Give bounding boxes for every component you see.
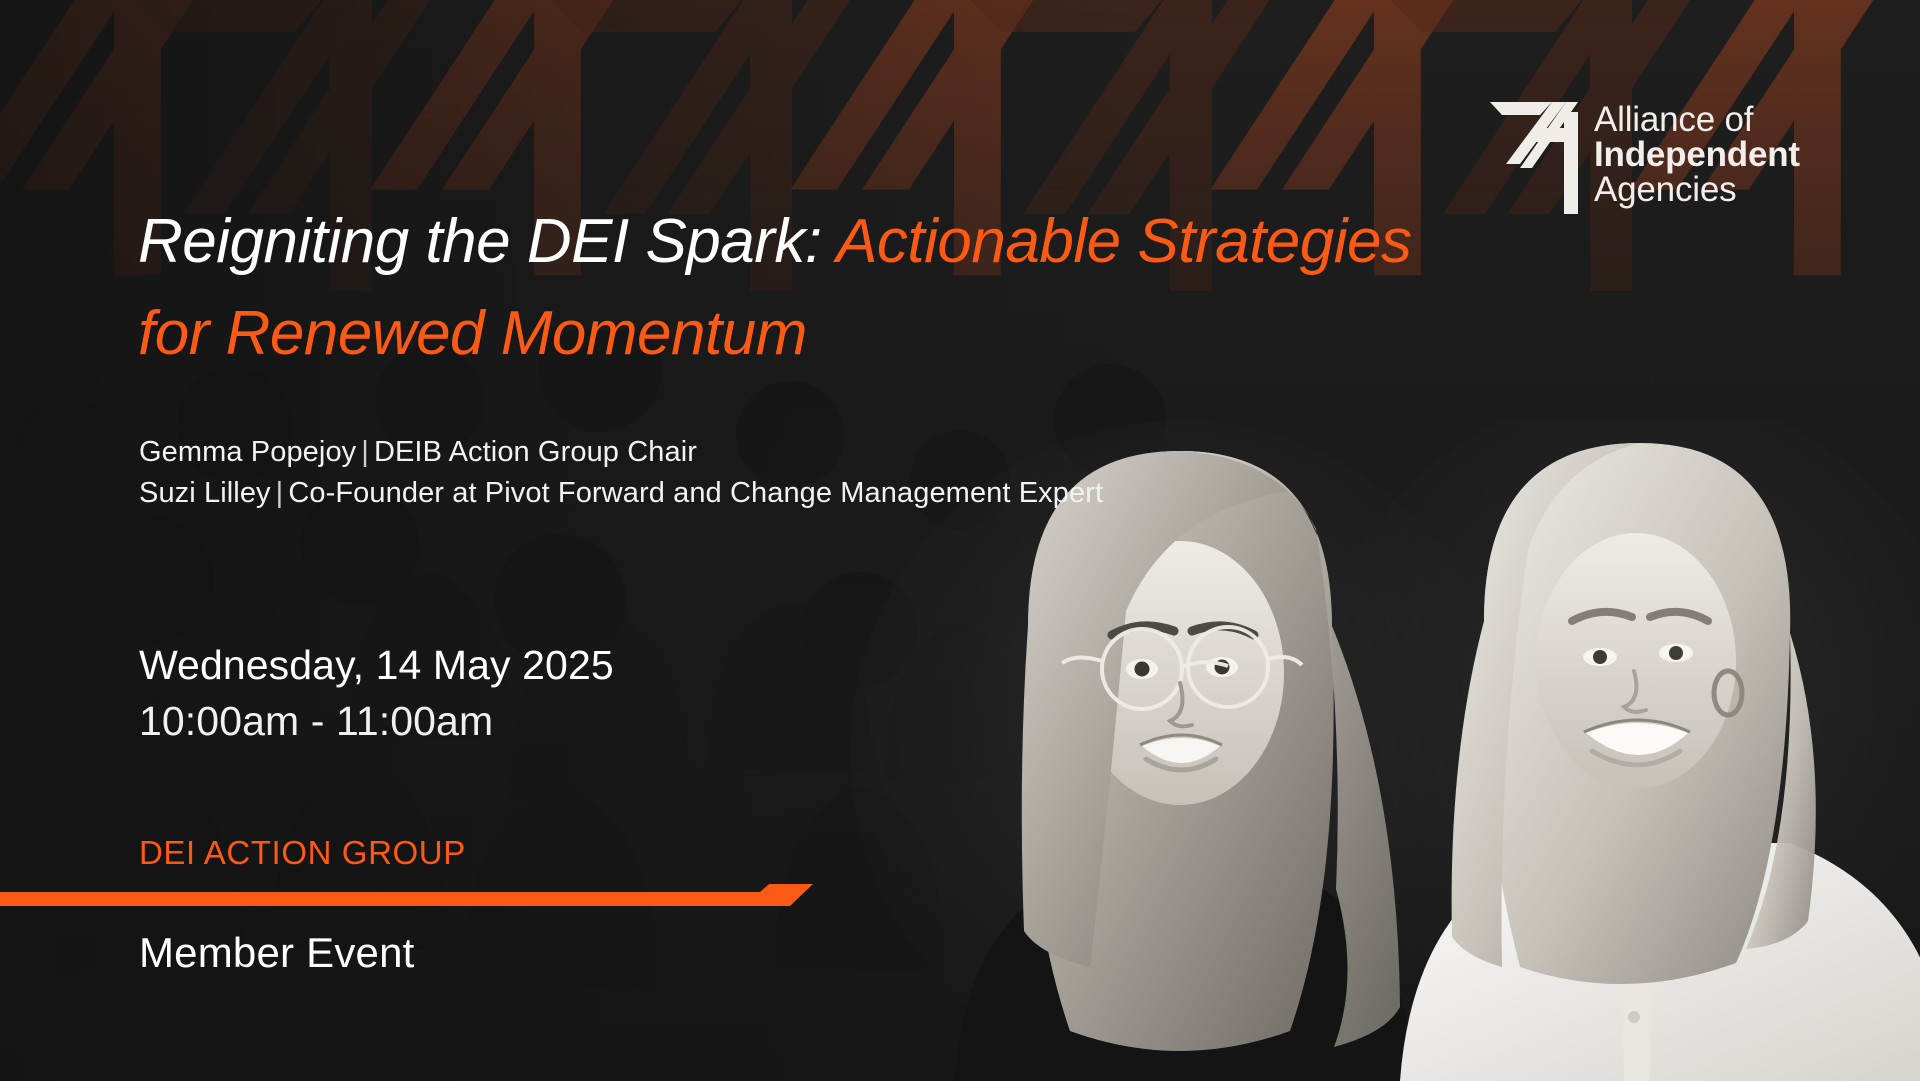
logo-line-2: Independent [1594, 137, 1800, 172]
title-orange-part-1: Actionable [836, 207, 1121, 276]
event-time: 10:00am - 11:00am [139, 693, 614, 749]
event-type-label: Member Event [139, 929, 415, 977]
speaker-row-2: Suzi Lilley|Co-Founder at Pivot Forward … [139, 473, 1103, 514]
speaker-role-2: Co-Founder at Pivot Forward and Change M… [288, 477, 1103, 509]
group-label: DEI ACTION GROUP [139, 834, 466, 872]
event-banner: Alliance of Independent Agencies Reignit… [0, 0, 1920, 1081]
speaker-name-2: Suzi Lilley [139, 477, 271, 509]
speaker-divider-1: | [356, 436, 374, 468]
alliance-logo[interactable]: Alliance of Independent Agencies [1490, 98, 1800, 214]
alliance-arrow-mark-icon [1490, 98, 1578, 214]
alliance-logo-wordmark: Alliance of Independent Agencies [1594, 98, 1800, 207]
speaker-photos-svg [760, 421, 1920, 1081]
speaker-divider-2: | [271, 477, 289, 509]
event-date: Wednesday, 14 May 2025 [139, 637, 614, 693]
event-schedule: Wednesday, 14 May 2025 10:00am - 11:00am [139, 637, 614, 749]
speaker-photos [760, 421, 1920, 1081]
title-white-part: Reigniting the DEI Spark: [138, 207, 822, 276]
logo-line-3: Agencies [1594, 172, 1800, 207]
speaker-row-1: Gemma Popejoy|DEIB Action Group Chair [139, 432, 1103, 473]
speaker-name-1: Gemma Popejoy [139, 436, 356, 468]
speaker-list: Gemma Popejoy|DEIB Action Group Chair Su… [139, 432, 1103, 513]
speaker-role-1: DEIB Action Group Chair [374, 436, 697, 468]
page-title: Reigniting the DEI Spark: Actionable Str… [138, 196, 1468, 381]
logo-line-1: Alliance of [1594, 102, 1800, 137]
